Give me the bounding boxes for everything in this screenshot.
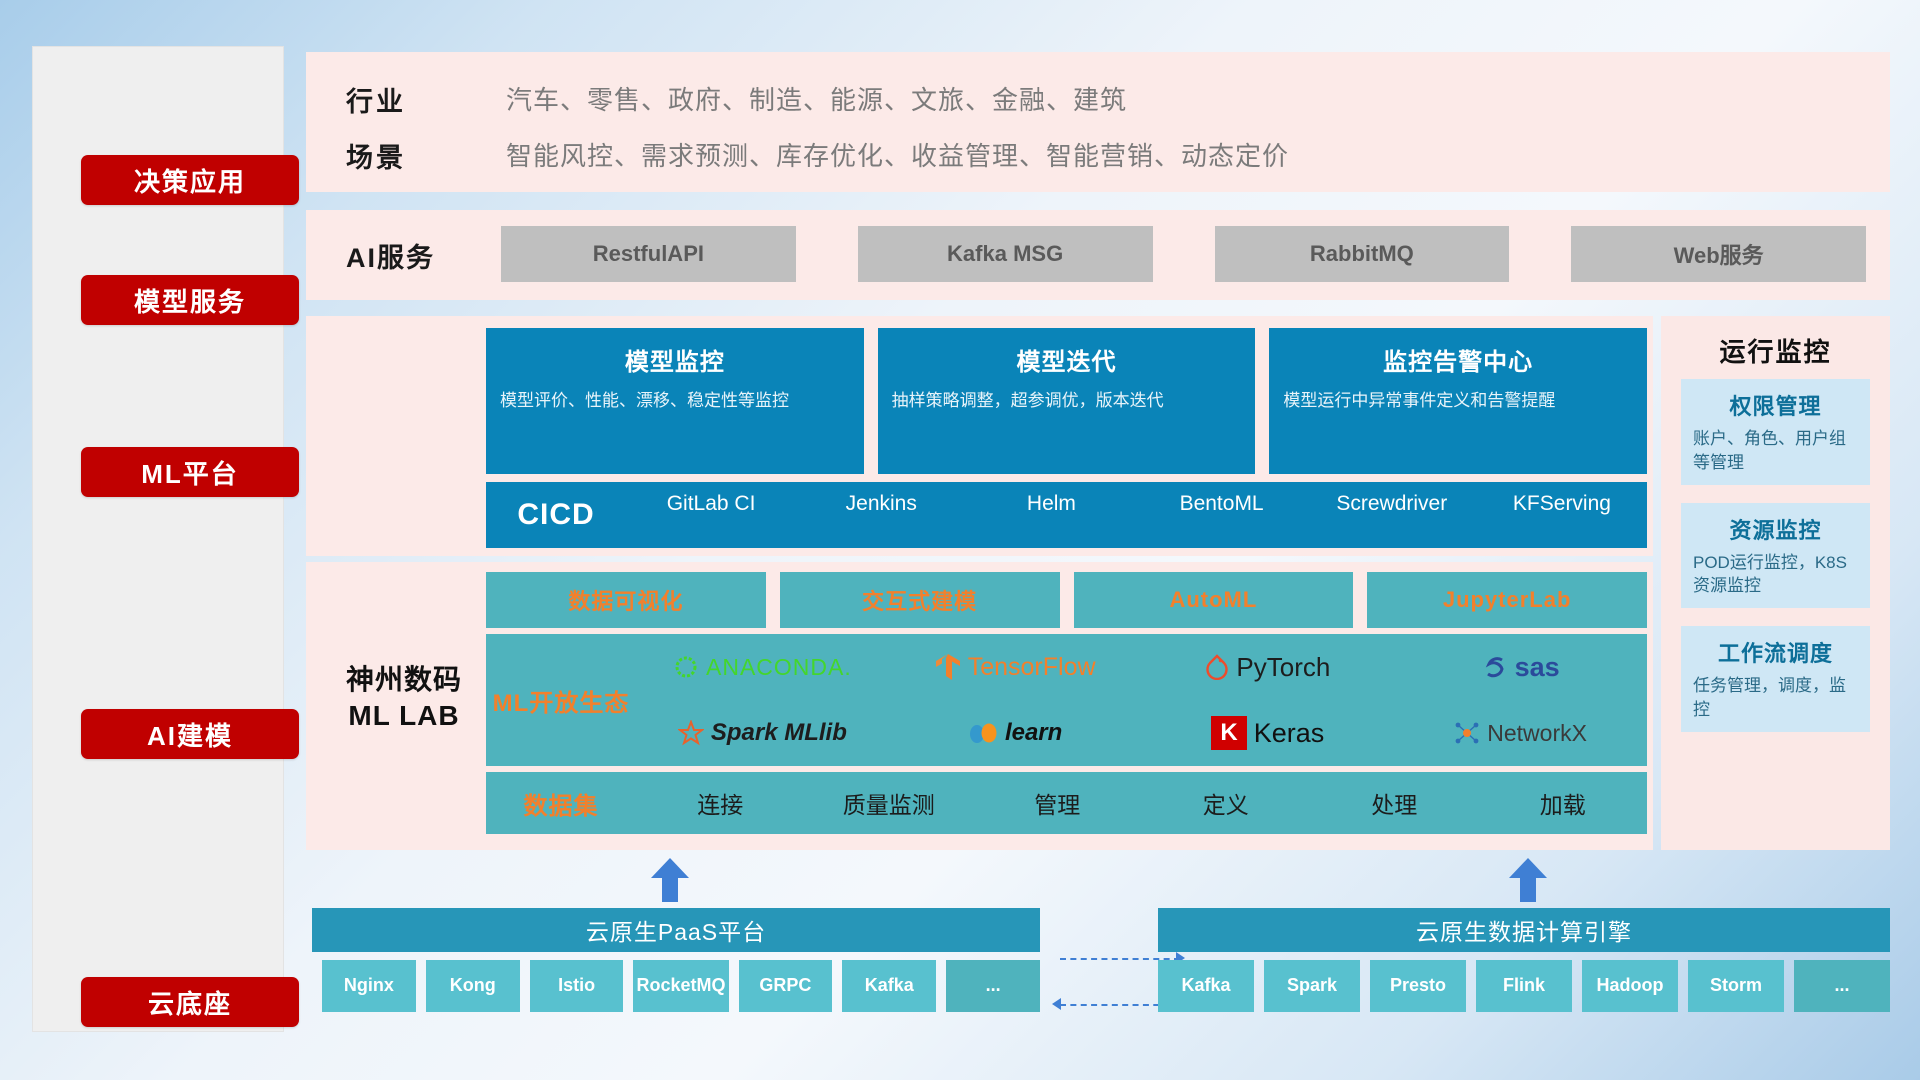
architecture-diagram: 决策应用 模型服务 ML平台 AI建模 云底座 行业 汽车、零售、政府、制造、能…: [0, 0, 1920, 1080]
run-monitor-title: 运行监控: [1661, 316, 1890, 379]
cloud-compute-engine-bar[interactable]: 云原生数据计算引擎: [1158, 908, 1890, 952]
chip-istio[interactable]: Istio: [530, 960, 624, 1012]
tool-interactive-modeling[interactable]: 交互式建模: [780, 572, 1060, 628]
spark-star-icon: [678, 720, 704, 746]
anaconda-logo: ANACONDA.: [673, 654, 852, 681]
dataset-row: 数据集 连接 质量监测 管理 定义 处理 加载: [486, 772, 1647, 834]
mlops-band: MLOps 模型监控 模型评价、性能、漂移、稳定性等监控 模型迭代 抽样策略调整…: [306, 316, 1653, 556]
card-title: 监控告警中心: [1283, 342, 1633, 377]
cicd-item-helm[interactable]: Helm: [966, 492, 1136, 538]
mlops-card-list: 模型监控 模型评价、性能、漂移、稳定性等监控 模型迭代 抽样策略调整，超参调优，…: [486, 328, 1647, 474]
tier-cloud-foundation[interactable]: 云底座: [81, 977, 299, 1027]
scikit-learn-logo: learn: [968, 719, 1062, 747]
card-title: 模型迭代: [892, 342, 1242, 377]
chip-grpc[interactable]: GRPC: [739, 960, 833, 1012]
chip-kafka[interactable]: Kafka: [842, 960, 936, 1012]
mlops-card-model-iteration[interactable]: 模型迭代 抽样策略调整，超参调优，版本迭代: [878, 328, 1256, 474]
monitor-box-workflow[interactable]: 工作流调度 任务管理，调度，监控: [1681, 626, 1870, 732]
chip-spark[interactable]: Spark: [1264, 960, 1360, 1012]
dash-arrow-head-left: [1052, 998, 1061, 1010]
ml-lab-label: 神州数码 ML LAB: [324, 662, 484, 735]
run-monitor-panel: 运行监控 权限管理 账户、角色、用户组等管理 资源监控 POD运行监控，K8S资…: [1661, 316, 1890, 850]
cloud-paas-bar[interactable]: 云原生PaaS平台: [312, 908, 1040, 952]
chip-kafka-right[interactable]: Kafka: [1158, 960, 1254, 1012]
scenario-label: 场景: [346, 136, 406, 175]
pytorch-logo: PyTorch: [1205, 652, 1330, 683]
chip-storm[interactable]: Storm: [1688, 960, 1784, 1012]
dataset-item-connect[interactable]: 连接: [636, 786, 805, 820]
keras-mark-icon: K: [1211, 716, 1246, 750]
monitor-box-permission[interactable]: 权限管理 账户、角色、用户组等管理: [1681, 379, 1870, 485]
service-restfulapi[interactable]: RestfulAPI: [501, 226, 796, 282]
tier-label: 模型服务: [134, 282, 246, 319]
logo-text: learn: [1005, 719, 1062, 747]
up-arrow-compute-engine: [1509, 858, 1547, 902]
cicd-item-screwdriver[interactable]: Screwdriver: [1307, 492, 1477, 538]
chip-presto[interactable]: Presto: [1370, 960, 1466, 1012]
sas-mark-icon: [1482, 654, 1508, 680]
dataset-item-loading[interactable]: 加载: [1479, 786, 1648, 820]
box-desc: 任务管理，调度，监控: [1693, 674, 1858, 722]
tier-ml-platform[interactable]: ML平台: [81, 447, 299, 497]
cicd-label: CICD: [486, 498, 626, 532]
tool-data-visualization[interactable]: 数据可视化: [486, 572, 766, 628]
networkx-logo: NetworkX: [1454, 720, 1587, 747]
chip-more-right[interactable]: ...: [1794, 960, 1890, 1012]
up-arrow-paas: [651, 858, 689, 902]
chip-more-left[interactable]: ...: [946, 960, 1040, 1012]
industry-scenario-band: 行业 汽车、零售、政府、制造、能源、文旅、金融、建筑 场景 智能风控、需求预测、…: [306, 52, 1890, 192]
dataset-item-management[interactable]: 管理: [973, 786, 1142, 820]
cloud-paas-chip-row: Nginx Kong Istio RocketMQ GRPC Kafka ...: [322, 960, 1040, 1012]
tier-label: 决策应用: [134, 162, 246, 199]
tier-rail: 决策应用 模型服务 ML平台 AI建模 云底座: [32, 46, 284, 1032]
dataset-item-definition[interactable]: 定义: [1142, 786, 1311, 820]
tool-jupyterlab[interactable]: JupyterLab: [1367, 572, 1647, 628]
service-web[interactable]: Web服务: [1571, 226, 1866, 282]
pytorch-mark-icon: [1205, 654, 1229, 680]
logo-text: NetworkX: [1487, 720, 1587, 747]
card-title: 模型监控: [500, 342, 850, 377]
ml-ecosystem-logo-grid: ANACONDA. TensorFlow PyTorch: [636, 634, 1647, 766]
logo-text: Keras: [1254, 718, 1325, 749]
tier-decision-application[interactable]: 决策应用: [81, 155, 299, 205]
tensorflow-mark-icon: [935, 653, 961, 681]
ai-service-band: AI服务 RestfulAPI Kafka MSG RabbitMQ Web服务: [306, 210, 1890, 300]
ml-lab-label-line2: ML LAB: [324, 698, 484, 734]
chip-rocketmq[interactable]: RocketMQ: [633, 960, 728, 1012]
cicd-item-bentoml[interactable]: BentoML: [1137, 492, 1307, 538]
dataset-item-processing[interactable]: 处理: [1310, 786, 1479, 820]
cicd-row: CICD GitLab CI Jenkins Helm BentoML Scre…: [486, 482, 1647, 548]
card-desc: 模型评价、性能、漂移、稳定性等监控: [500, 389, 850, 414]
dataset-label: 数据集: [486, 786, 636, 821]
service-kafka-msg[interactable]: Kafka MSG: [858, 226, 1153, 282]
chip-nginx[interactable]: Nginx: [322, 960, 416, 1012]
ml-ecosystem-row: ML开放生态 ANACONDA. TensorFlow: [486, 634, 1647, 766]
tier-label: ML平台: [141, 454, 239, 491]
industry-label: 行业: [346, 80, 406, 119]
tool-automl[interactable]: AutoML: [1074, 572, 1354, 628]
tier-label: AI建模: [147, 716, 233, 753]
cicd-item-gitlab-ci[interactable]: GitLab CI: [626, 492, 796, 538]
dataset-item-quality-monitoring[interactable]: 质量监测: [805, 786, 974, 820]
scikit-learn-mark-icon: [968, 720, 998, 746]
logo-text: PyTorch: [1236, 652, 1330, 683]
keras-logo: K Keras: [1211, 716, 1324, 750]
cicd-item-jenkins[interactable]: Jenkins: [796, 492, 966, 538]
logo-text: Spark MLlib: [711, 719, 847, 747]
tier-label: 云底座: [148, 984, 232, 1021]
spark-mllib-logo: Spark MLlib: [678, 719, 847, 747]
mlops-card-model-monitoring[interactable]: 模型监控 模型评价、性能、漂移、稳定性等监控: [486, 328, 864, 474]
tier-ai-modeling[interactable]: AI建模: [81, 709, 299, 759]
scenario-values: 智能风控、需求预测、库存优化、收益管理、智能营销、动态定价: [506, 136, 1289, 173]
ml-lab-tool-row: 数据可视化 交互式建模 AutoML JupyterLab: [486, 572, 1647, 628]
logo-text: ANACONDA.: [706, 654, 852, 681]
chip-flink[interactable]: Flink: [1476, 960, 1572, 1012]
box-title: 资源监控: [1693, 513, 1858, 545]
monitor-box-resource[interactable]: 资源监控 POD运行监控，K8S资源监控: [1681, 503, 1870, 609]
ai-service-label: AI服务: [346, 236, 435, 275]
box-title: 工作流调度: [1693, 636, 1858, 668]
cloud-compute-chip-row: Kafka Spark Presto Flink Hadoop Storm ..…: [1158, 960, 1890, 1012]
service-rabbitmq[interactable]: RabbitMQ: [1215, 226, 1510, 282]
cicd-item-kfserving[interactable]: KFServing: [1477, 492, 1647, 538]
anaconda-mark-icon: [673, 654, 699, 680]
networkx-mark-icon: [1454, 720, 1480, 746]
box-desc: 账户、角色、用户组等管理: [1693, 427, 1858, 475]
sas-logo: sas: [1482, 652, 1560, 683]
mlops-card-alert-center[interactable]: 监控告警中心 模型运行中异常事件定义和告警提醒: [1269, 328, 1647, 474]
box-desc: POD运行监控，K8S资源监控: [1693, 551, 1858, 599]
ml-lab-label-line1: 神州数码: [324, 662, 484, 698]
tier-model-service[interactable]: 模型服务: [81, 275, 299, 325]
logo-text: TensorFlow: [968, 653, 1096, 682]
industry-values: 汽车、零售、政府、制造、能源、文旅、金融、建筑: [506, 80, 1127, 117]
ml-ecosystem-label: ML开放生态: [486, 683, 636, 718]
card-desc: 抽样策略调整，超参调优，版本迭代: [892, 389, 1242, 414]
box-title: 权限管理: [1693, 389, 1858, 421]
ai-service-list: RestfulAPI Kafka MSG RabbitMQ Web服务: [501, 226, 1866, 282]
card-desc: 模型运行中异常事件定义和告警提醒: [1283, 389, 1633, 414]
chip-kong[interactable]: Kong: [426, 960, 520, 1012]
chip-hadoop[interactable]: Hadoop: [1582, 960, 1678, 1012]
logo-text: sas: [1515, 652, 1560, 683]
ml-lab-band: 神州数码 ML LAB 数据可视化 交互式建模 AutoML JupyterLa…: [306, 562, 1653, 850]
tensorflow-logo: TensorFlow: [935, 653, 1096, 682]
